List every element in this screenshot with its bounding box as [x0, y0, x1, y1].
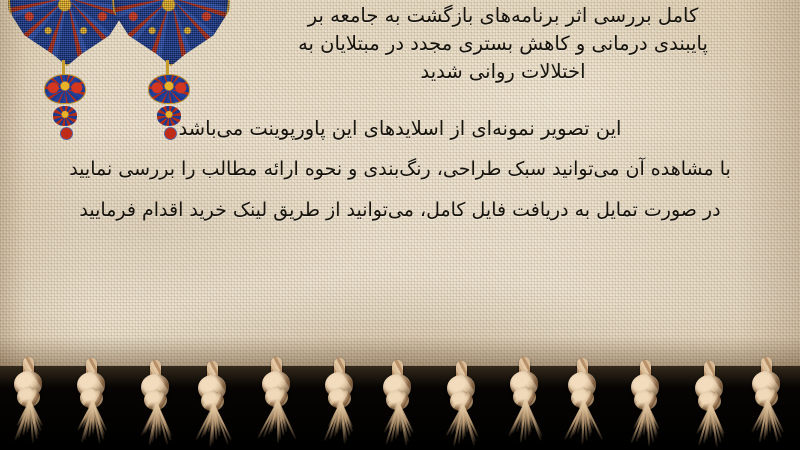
presentation-slide: کامل بررسی اثر برنامه‌های بازگشت به جامع…: [0, 0, 800, 450]
body-line-2: با مشاهده آن می‌توانید سبک طراحی، رنگ‌بن…: [18, 149, 782, 190]
title-line-2: پایبندی درمانی و کاهش بستری مجدد در مبتل…: [218, 30, 788, 58]
slide-title: کامل بررسی اثر برنامه‌های بازگشت به جامع…: [218, 2, 788, 86]
body-line-3: در صورت تمایل به دریافت فایل کامل، می‌تو…: [18, 190, 782, 231]
title-line-3: اختلالات روانی شدید: [218, 58, 788, 86]
title-line-1: کامل بررسی اثر برنامه‌های بازگشت به جامع…: [218, 2, 788, 30]
slide-body: این تصویر نمونه‌ای از اسلایدهای این پاور…: [18, 108, 782, 231]
slide-text-layer: کامل بررسی اثر برنامه‌های بازگشت به جامع…: [0, 0, 800, 372]
body-line-1: این تصویر نمونه‌ای از اسلایدهای این پاور…: [18, 108, 782, 149]
bottom-black-band: [0, 366, 800, 450]
